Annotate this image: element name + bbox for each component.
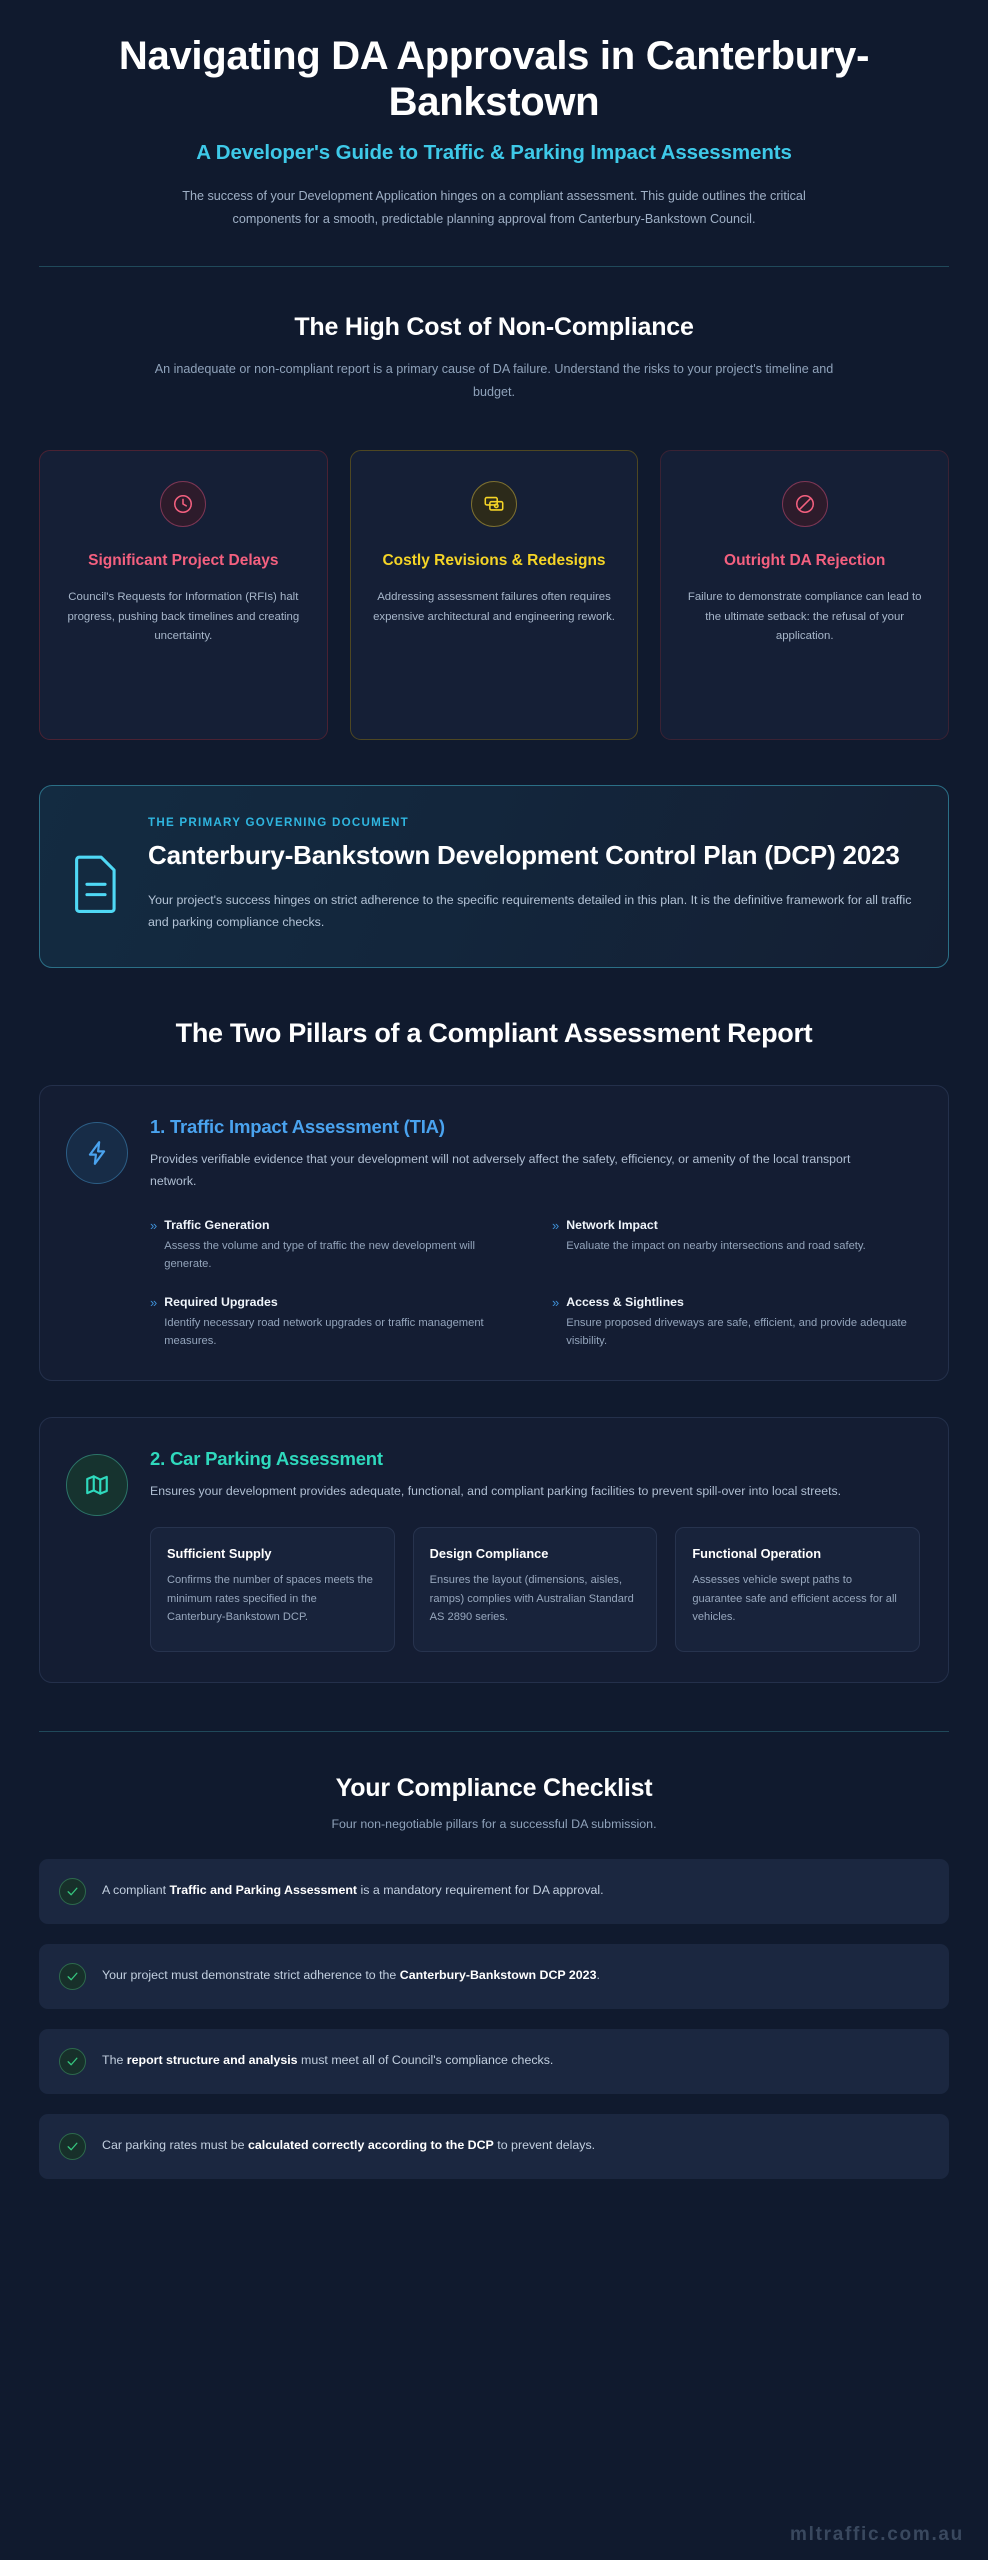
pillar-tia: 1. Traffic Impact Assessment (TIA) Provi… <box>39 1085 949 1381</box>
list-item: Your project must demonstrate strict adh… <box>39 1944 949 2009</box>
pillar-car-parking: 2. Car Parking Assessment Ensures your d… <box>39 1417 949 1683</box>
checklist-pre: Your project must demonstrate strict adh… <box>102 1968 400 1982</box>
check-circle-icon <box>59 2133 86 2160</box>
feature-body: Evaluate the impact on nearby intersecti… <box>566 1237 866 1255</box>
hero-section: Navigating DA Approvals in Canterbury-Ba… <box>39 0 949 232</box>
feature-body: Assess the volume and type of traffic th… <box>164 1237 518 1273</box>
infographic-page: Navigating DA Approvals in Canterbury-Ba… <box>0 0 988 2560</box>
parking-card-title: Sufficient Supply <box>167 1545 378 1562</box>
risk-section-title: The High Cost of Non-Compliance <box>39 313 949 342</box>
dcp-body-text: Your project's success hinges on strict … <box>148 889 916 933</box>
feature-title: Access & Sightlines <box>566 1295 920 1309</box>
pillar-parking-heading: 2. Car Parking Assessment <box>150 1448 920 1470</box>
tia-feature-required-upgrades: » Required Upgrades Identify necessary r… <box>150 1295 518 1350</box>
checklist-post: to prevent delays. <box>494 2138 595 2152</box>
check-circle-icon <box>59 2048 86 2075</box>
risk-section-subtitle: An inadequate or non-compliant report is… <box>144 358 844 405</box>
checklist-pre: The <box>102 2053 127 2067</box>
parking-card-sufficient-supply: Sufficient Supply Confirms the number of… <box>150 1527 395 1652</box>
parking-card-design-compliance: Design Compliance Ensures the layout (di… <box>413 1527 658 1652</box>
check-circle-icon <box>59 1963 86 1990</box>
risk-card-title: Significant Project Delays <box>60 551 307 572</box>
checklist-item-text: Car parking rates must be calculated cor… <box>102 2135 595 2157</box>
pillar-parking-lead: Ensures your development provides adequa… <box>150 1481 880 1503</box>
chevron-right-icon: » <box>150 1295 154 1350</box>
site-watermark: mltraffic.com.au <box>790 2524 964 2546</box>
risk-card-revisions: Costly Revisions & Redesigns Addressing … <box>350 450 639 740</box>
checklist-section: Your Compliance Checklist Four non-negot… <box>39 1774 949 2179</box>
checklist-bold: Traffic and Parking Assessment <box>170 1883 358 1897</box>
checklist-bold: Canterbury-Bankstown DCP 2023 <box>400 1968 597 1982</box>
checklist-post: must meet all of Council's compliance ch… <box>298 2053 554 2067</box>
dcp-kicker: THE PRIMARY GOVERNING DOCUMENT <box>148 816 916 829</box>
dcp-title: Canterbury-Bankstown Development Control… <box>148 840 916 872</box>
feature-body: Ensure proposed driveways are safe, effi… <box>566 1314 920 1350</box>
page-subtitle: A Developer's Guide to Traffic & Parking… <box>39 141 949 165</box>
risk-card-body: Addressing assessment failures often req… <box>371 588 618 627</box>
tia-feature-list: » Traffic Generation Assess the volume a… <box>150 1218 920 1351</box>
feature-body: Identify necessary road network upgrades… <box>164 1314 518 1350</box>
tia-feature-access-sightlines: » Access & Sightlines Ensure proposed dr… <box>552 1295 920 1350</box>
checklist-subtitle: Four non-negotiable pillars for a succes… <box>39 1817 949 1831</box>
risk-card-list: Significant Project Delays Council's Req… <box>39 450 949 740</box>
checklist-title: Your Compliance Checklist <box>39 1774 949 1803</box>
risk-section: The High Cost of Non-Compliance An inade… <box>39 313 949 741</box>
feature-title: Required Upgrades <box>164 1295 518 1309</box>
pillar-tia-heading: 1. Traffic Impact Assessment (TIA) <box>150 1116 920 1138</box>
risk-card-delays: Significant Project Delays Council's Req… <box>39 450 328 740</box>
list-item: Car parking rates must be calculated cor… <box>39 2114 949 2179</box>
chevron-right-icon: » <box>552 1295 556 1350</box>
hero-intro-text: The success of your Development Applicat… <box>149 185 839 232</box>
pillars-section: The Two Pillars of a Compliant Assessmen… <box>39 1018 949 1682</box>
checklist-item-text: A compliant Traffic and Parking Assessme… <box>102 1880 604 1902</box>
risk-card-title: Outright DA Rejection <box>681 551 928 572</box>
parking-card-body: Assesses vehicle swept paths to guarante… <box>692 1571 903 1627</box>
parking-card-list: Sufficient Supply Confirms the number of… <box>150 1527 920 1652</box>
risk-card-body: Failure to demonstrate compliance can le… <box>681 588 928 647</box>
risk-card-body: Council's Requests for Information (RFIs… <box>60 588 307 647</box>
tia-feature-traffic-generation: » Traffic Generation Assess the volume a… <box>150 1218 518 1273</box>
checklist-bold: calculated correctly according to the DC… <box>248 2138 494 2152</box>
pillar-tia-lead: Provides verifiable evidence that your d… <box>150 1149 880 1192</box>
divider-checklist <box>39 1731 949 1732</box>
checklist-post: . <box>596 1968 599 1982</box>
checklist-item-text: The report structure and analysis must m… <box>102 2050 553 2072</box>
feature-title: Traffic Generation <box>164 1218 518 1232</box>
checklist-items: A compliant Traffic and Parking Assessme… <box>39 1859 949 2179</box>
prohibited-icon <box>782 481 828 527</box>
list-item: The report structure and analysis must m… <box>39 2029 949 2094</box>
risk-card-rejection: Outright DA Rejection Failure to demonst… <box>660 450 949 740</box>
banknotes-icon <box>471 481 517 527</box>
checklist-post: is a mandatory requirement for DA approv… <box>357 1883 604 1897</box>
pillars-title: The Two Pillars of a Compliant Assessmen… <box>39 1018 949 1049</box>
check-circle-icon <box>59 1878 86 1905</box>
map-icon <box>66 1454 128 1516</box>
page-title: Navigating DA Approvals in Canterbury-Ba… <box>99 34 889 125</box>
tia-feature-network-impact: » Network Impact Evaluate the impact on … <box>552 1218 920 1273</box>
dcp-banner: THE PRIMARY GOVERNING DOCUMENT Canterbur… <box>39 785 949 968</box>
checklist-item-text: Your project must demonstrate strict adh… <box>102 1965 600 1987</box>
parking-card-body: Confirms the number of spaces meets the … <box>167 1571 378 1627</box>
divider-top <box>39 266 949 267</box>
checklist-pre: A compliant <box>102 1883 170 1897</box>
checklist-pre: Car parking rates must be <box>102 2138 248 2152</box>
dcp-banner-section: THE PRIMARY GOVERNING DOCUMENT Canterbur… <box>39 785 949 968</box>
parking-card-body: Ensures the layout (dimensions, aisles, … <box>430 1571 641 1627</box>
checklist-bold: report structure and analysis <box>127 2053 298 2067</box>
chevron-right-icon: » <box>552 1218 556 1273</box>
risk-card-title: Costly Revisions & Redesigns <box>371 551 618 572</box>
clock-icon <box>160 481 206 527</box>
feature-title: Network Impact <box>566 1218 866 1232</box>
parking-card-functional-operation: Functional Operation Assesses vehicle sw… <box>675 1527 920 1652</box>
parking-card-title: Design Compliance <box>430 1545 641 1562</box>
list-item: A compliant Traffic and Parking Assessme… <box>39 1859 949 1924</box>
parking-card-title: Functional Operation <box>692 1545 903 1562</box>
lightning-icon <box>66 1122 128 1184</box>
chevron-right-icon: » <box>150 1218 154 1273</box>
document-icon <box>70 816 122 919</box>
